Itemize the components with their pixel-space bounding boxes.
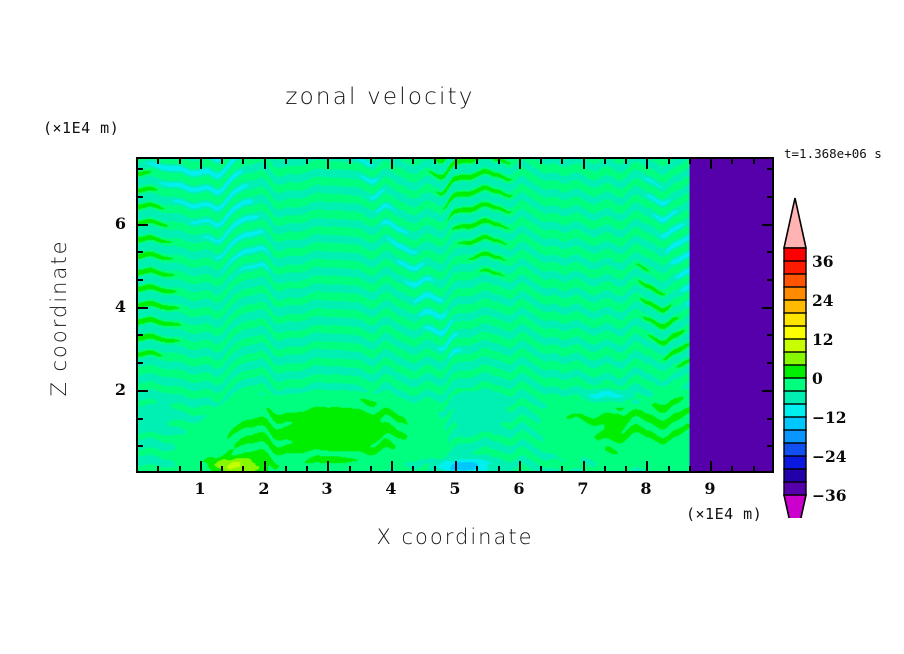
x-tick-label: 5 xyxy=(440,479,470,498)
colorbar-tick-label: 12 xyxy=(812,330,834,349)
x-tick-label: 6 xyxy=(504,479,534,498)
y-tick-minor-right xyxy=(767,418,774,420)
x-tick-minor xyxy=(498,466,500,473)
x-tick-minor-top xyxy=(561,157,563,164)
colorbar-band xyxy=(784,287,806,300)
x-tick-major-top xyxy=(455,157,457,169)
x-tick-major-top xyxy=(583,157,585,169)
colorbar-tick-label: 0 xyxy=(812,369,823,388)
x-tick-major xyxy=(710,461,712,473)
x-tick-major-top xyxy=(646,157,648,169)
x-tick-minor-top xyxy=(157,157,159,164)
x-tick-label: 3 xyxy=(312,479,342,498)
figure-canvas: zonal velocity (×1E4 m) (×1E4 m) t=1.368… xyxy=(0,0,904,654)
x-tick-minor xyxy=(689,466,691,473)
x-tick-minor xyxy=(306,466,308,473)
y-tick-label: 6 xyxy=(100,214,126,233)
y-tick-label: 4 xyxy=(100,297,126,316)
colorbar-tick-label: −36 xyxy=(812,486,847,505)
x-tick-minor-top xyxy=(221,157,223,164)
x-tick-minor-top xyxy=(731,157,733,164)
x-tick-label: 2 xyxy=(249,479,279,498)
x-tick-label: 4 xyxy=(376,479,406,498)
colorbar-band xyxy=(784,300,806,313)
y-tick-minor xyxy=(136,418,143,420)
y-tick-major xyxy=(136,307,148,309)
x-tick-major-top xyxy=(264,157,266,169)
x-tick-minor xyxy=(476,466,478,473)
colorbar: 3624120−12−24−36 xyxy=(780,196,900,518)
y-tick-minor-right xyxy=(767,168,774,170)
y-tick-label: 2 xyxy=(100,380,126,399)
x-tick-minor-top xyxy=(753,157,755,164)
y-tick-minor-right xyxy=(767,362,774,364)
y-tick-major-right xyxy=(762,307,774,309)
colorbar-band xyxy=(784,365,806,378)
colorbar-over-arrow xyxy=(784,198,806,248)
colorbar-tick-label: 24 xyxy=(812,291,834,310)
colorbar-band xyxy=(784,456,806,469)
x-tick-minor xyxy=(221,466,223,473)
y-axis-title: Z coordinate xyxy=(47,188,71,448)
colorbar-band xyxy=(784,261,806,274)
x-tick-minor xyxy=(370,466,372,473)
colorbar-tick-label: −24 xyxy=(812,447,847,466)
x-tick-minor xyxy=(668,466,670,473)
x-tick-minor-top xyxy=(242,157,244,164)
x-tick-major xyxy=(327,461,329,473)
x-tick-minor-top xyxy=(476,157,478,164)
y-tick-minor xyxy=(136,279,143,281)
colorbar-band xyxy=(784,404,806,417)
colorbar-band xyxy=(784,391,806,404)
y-tick-major xyxy=(136,224,148,226)
x-tick-major xyxy=(519,461,521,473)
x-tick-minor xyxy=(604,466,606,473)
x-tick-minor-top xyxy=(370,157,372,164)
x-tick-label: 1 xyxy=(185,479,215,498)
y-tick-minor xyxy=(136,334,143,336)
x-tick-label: 7 xyxy=(568,479,598,498)
x-tick-minor xyxy=(349,466,351,473)
x-tick-major-top xyxy=(200,157,202,169)
colorbar-tick-label: −12 xyxy=(812,408,847,427)
x-tick-major xyxy=(391,461,393,473)
x-tick-label: 9 xyxy=(695,479,725,498)
x-tick-minor xyxy=(157,466,159,473)
x-tick-minor-top xyxy=(498,157,500,164)
colorbar-band xyxy=(784,443,806,456)
x-tick-minor-top xyxy=(412,157,414,164)
x-tick-major-top xyxy=(391,157,393,169)
x-tick-major xyxy=(646,461,648,473)
x-tick-major xyxy=(264,461,266,473)
colorbar-band xyxy=(784,430,806,443)
y-tick-major xyxy=(136,390,148,392)
x-tick-major xyxy=(200,461,202,473)
y-tick-major-right xyxy=(762,224,774,226)
x-tick-minor xyxy=(242,466,244,473)
colorbar-band xyxy=(784,326,806,339)
y-tick-minor-right xyxy=(767,196,774,198)
x-tick-minor xyxy=(285,466,287,473)
x-tick-minor-top xyxy=(179,157,181,164)
x-tick-minor xyxy=(179,466,181,473)
x-tick-minor xyxy=(434,466,436,473)
y-tick-minor xyxy=(136,362,143,364)
colorbar-swatches xyxy=(780,196,820,518)
x-tick-minor-top xyxy=(285,157,287,164)
x-tick-minor-top xyxy=(689,157,691,164)
x-axis-unit-label: (×1E4 m) xyxy=(686,505,762,523)
contour-field xyxy=(138,159,772,471)
y-tick-minor-right xyxy=(767,334,774,336)
y-tick-minor xyxy=(136,196,143,198)
contour-plot-area xyxy=(136,157,774,473)
x-tick-major xyxy=(583,461,585,473)
x-tick-minor-top xyxy=(306,157,308,164)
x-tick-minor-top xyxy=(604,157,606,164)
colorbar-tick-label: 36 xyxy=(812,252,834,271)
x-tick-minor-top xyxy=(349,157,351,164)
x-tick-major-top xyxy=(519,157,521,169)
x-tick-minor-top xyxy=(625,157,627,164)
timestamp-annotation: t=1.368e+06 s xyxy=(784,146,882,161)
x-tick-major-top xyxy=(327,157,329,169)
colorbar-band xyxy=(784,378,806,391)
y-tick-minor-right xyxy=(767,445,774,447)
y-tick-minor-right xyxy=(767,279,774,281)
y-axis-unit-label: (×1E4 m) xyxy=(43,119,119,137)
colorbar-band xyxy=(784,339,806,352)
colorbar-band xyxy=(784,313,806,326)
colorbar-band xyxy=(784,482,806,495)
x-tick-major xyxy=(455,461,457,473)
x-tick-label: 8 xyxy=(631,479,661,498)
x-tick-minor-top xyxy=(434,157,436,164)
x-tick-minor xyxy=(561,466,563,473)
x-tick-minor-top xyxy=(668,157,670,164)
y-tick-major-right xyxy=(762,390,774,392)
colorbar-band xyxy=(784,248,806,261)
colorbar-band xyxy=(784,274,806,287)
x-tick-minor-top xyxy=(540,157,542,164)
colorbar-band xyxy=(784,417,806,430)
y-tick-minor xyxy=(136,251,143,253)
colorbar-band xyxy=(784,352,806,365)
x-tick-minor xyxy=(625,466,627,473)
y-tick-minor xyxy=(136,168,143,170)
page-title: zonal velocity xyxy=(0,84,760,110)
x-tick-minor xyxy=(731,466,733,473)
y-tick-minor xyxy=(136,445,143,447)
x-axis-title: X coordinate xyxy=(136,525,774,549)
x-tick-minor xyxy=(753,466,755,473)
colorbar-under-arrow xyxy=(784,495,806,518)
x-tick-minor xyxy=(412,466,414,473)
colorbar-band xyxy=(784,469,806,482)
y-tick-minor-right xyxy=(767,251,774,253)
x-tick-major-top xyxy=(710,157,712,169)
x-tick-minor xyxy=(540,466,542,473)
